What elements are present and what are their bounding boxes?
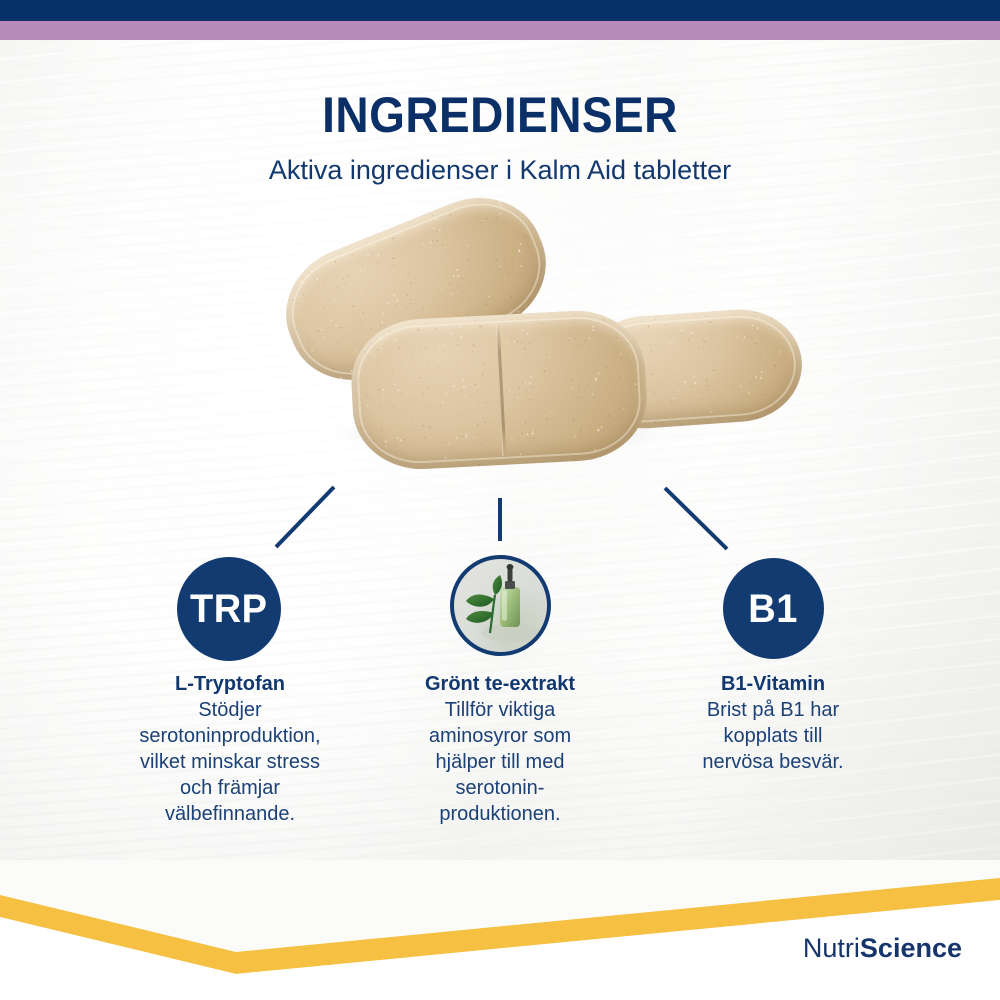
logo-text-nutri: Nutri	[803, 933, 860, 963]
ingredient-column-gront-te-extrakt: Grönt te-extrakt Tillför viktiga aminosy…	[380, 673, 620, 827]
b1-badge-label: B1	[749, 589, 799, 629]
trp-badge-icon[interactable]: TRP	[177, 557, 281, 661]
b1-badge-icon[interactable]: B1	[723, 558, 824, 659]
tablet-rim	[355, 314, 644, 467]
ingredient-description: Brist på B1 har kopplats till nervösa be…	[653, 697, 893, 775]
logo-text-science: Science	[860, 933, 962, 963]
ingredient-heading: Grönt te-extrakt	[380, 673, 620, 695]
ingredient-description: Stödjer serotoninproduktion, vilket mins…	[95, 697, 365, 827]
trp-badge-label: TRP	[190, 589, 267, 629]
tablet-front	[348, 307, 649, 472]
infographic-canvas: INGREDIENSER Aktiva ingredienser i Kalm …	[0, 0, 1000, 1000]
connector-lines	[0, 0, 1000, 1000]
connector-right	[665, 488, 727, 549]
ingredient-column-b1-vitamin: B1-Vitamin Brist på B1 har kopplats till…	[653, 673, 893, 775]
ingredient-heading: B1-Vitamin	[653, 673, 893, 695]
ingredient-description: Tillför viktiga aminosyror som hjälper t…	[380, 697, 620, 827]
green-tea-illustration	[450, 555, 551, 656]
green-tea-dropper-bottle-icon[interactable]	[450, 555, 551, 656]
yellow-chevron-band	[0, 860, 1000, 1000]
ingredient-column-l-tryptofan: L-Tryptofan Stödjer serotoninproduktion,…	[95, 673, 365, 827]
nutriscience-logo: NutriScience	[803, 935, 962, 962]
ingredient-heading: L-Tryptofan	[95, 673, 365, 695]
connector-left	[276, 487, 334, 547]
